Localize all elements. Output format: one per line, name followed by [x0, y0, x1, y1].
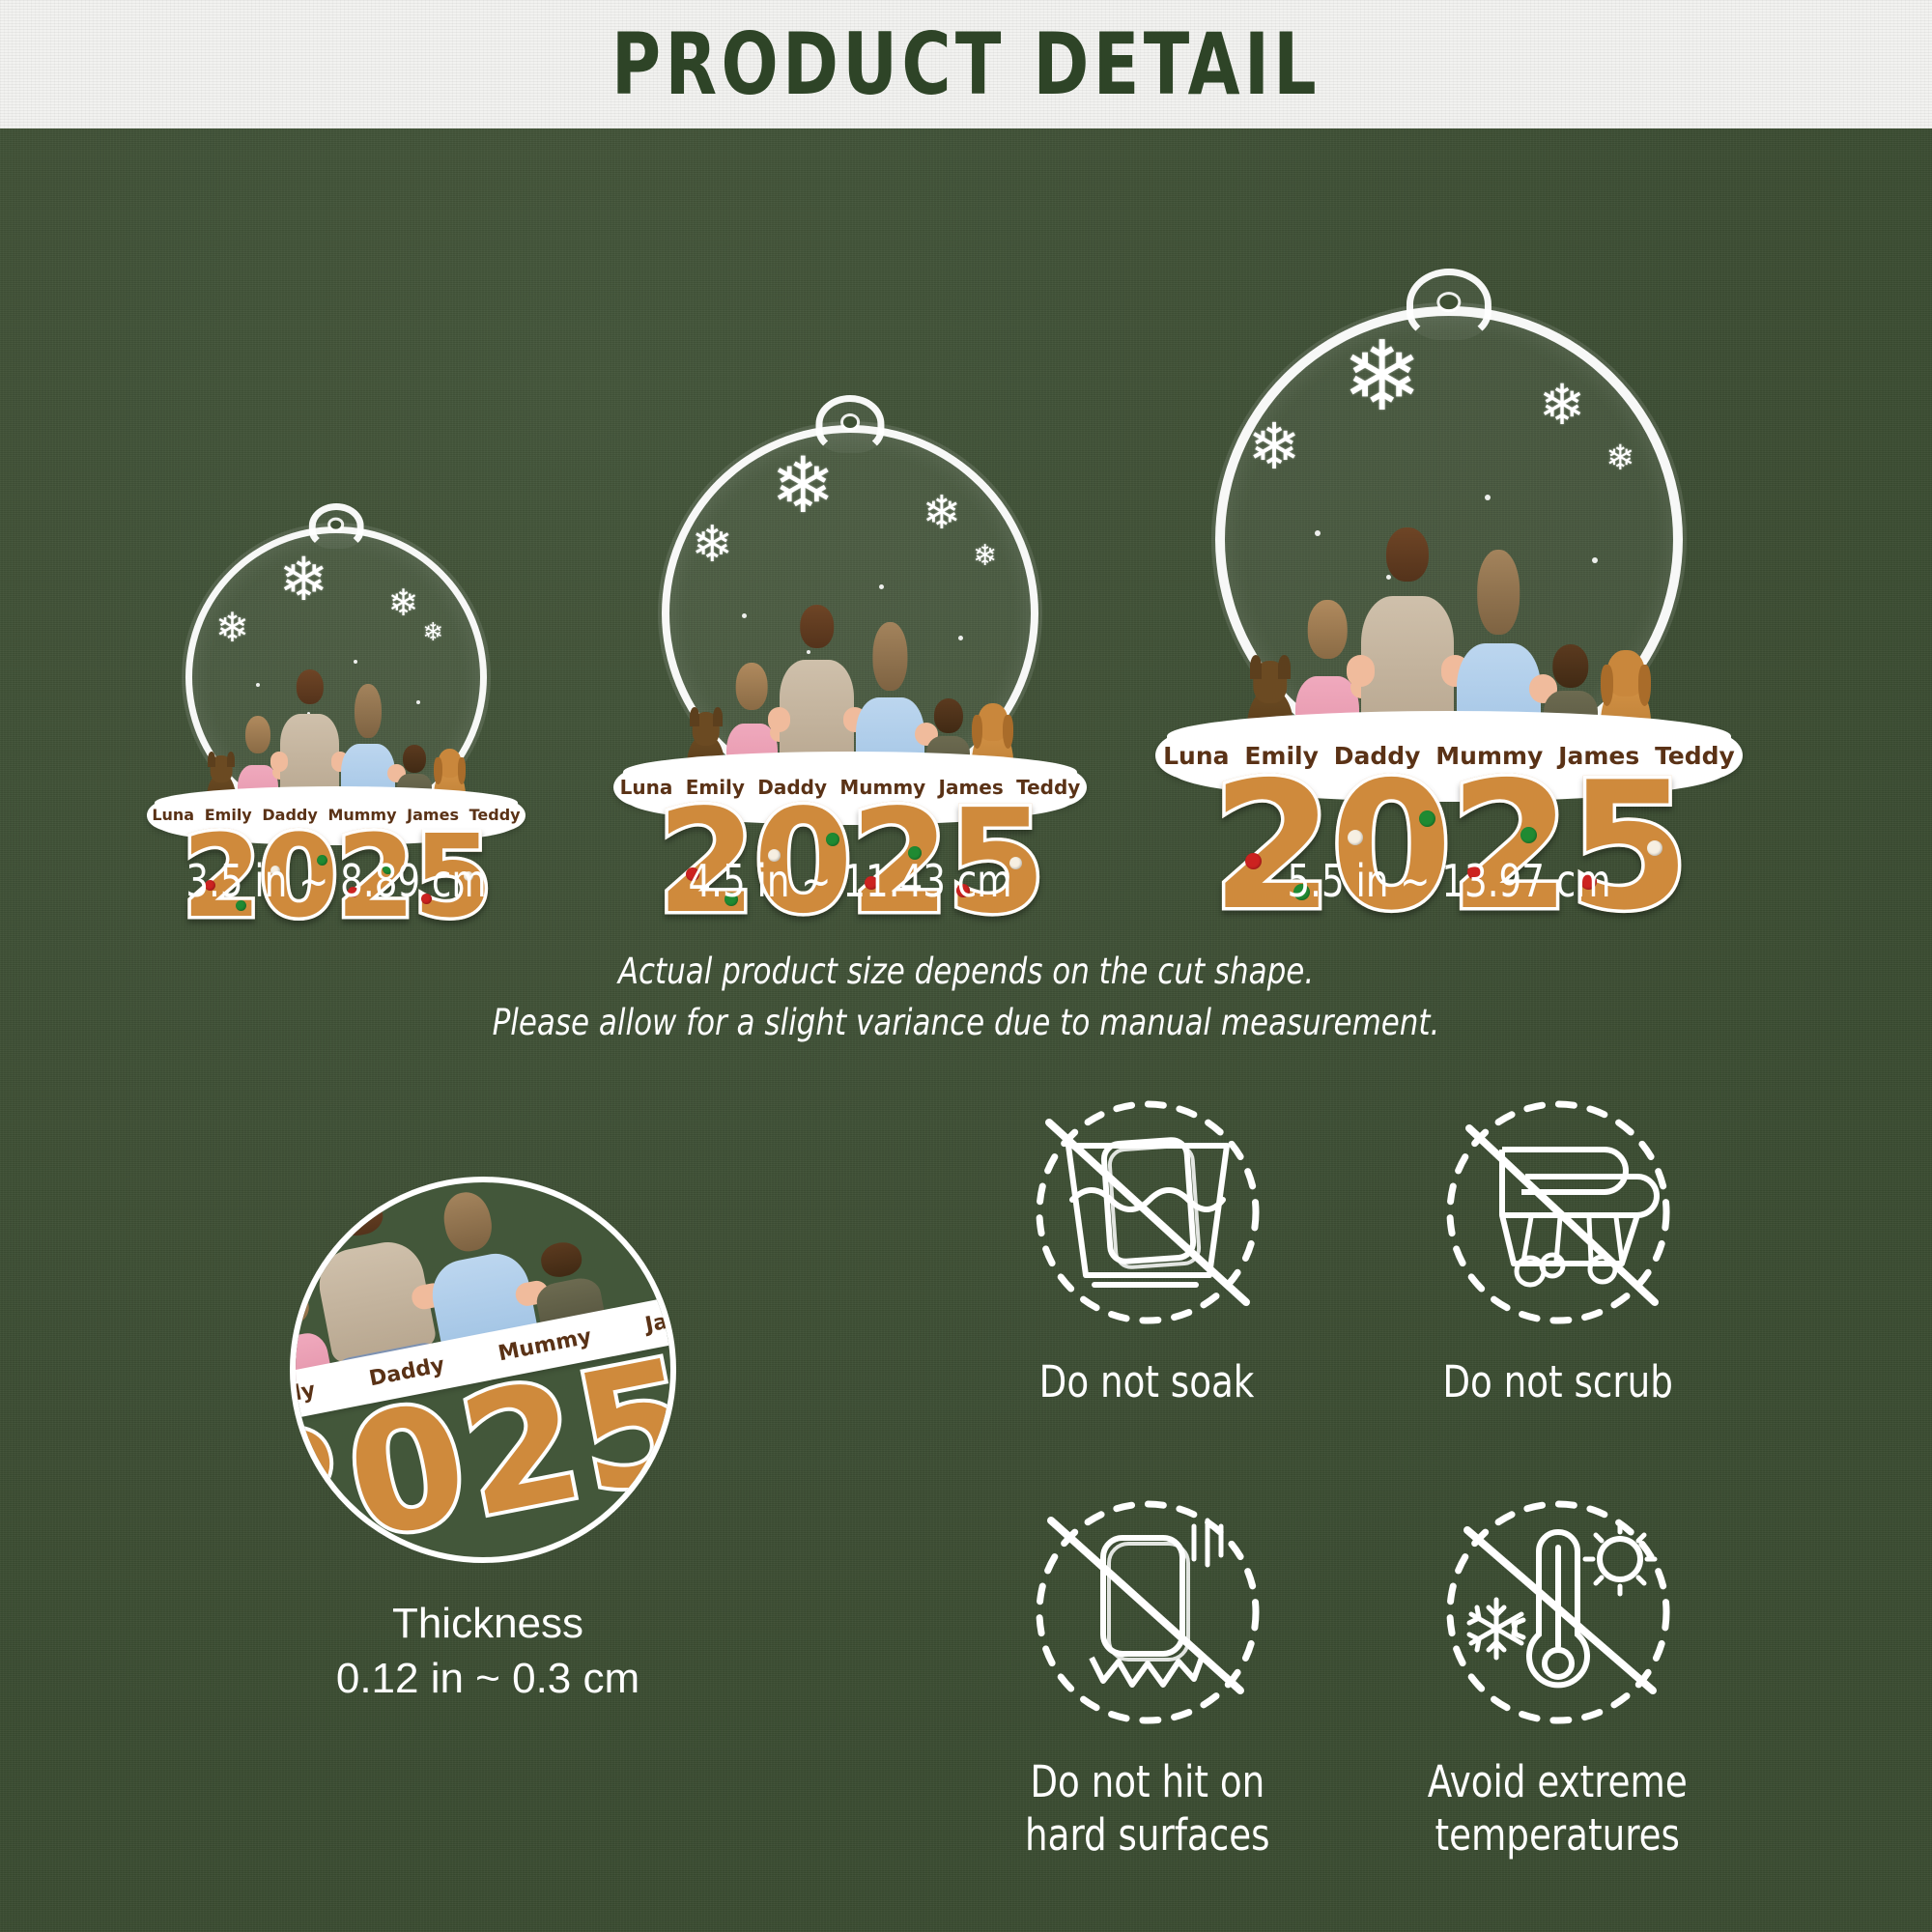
snowflake-icon: ❄	[278, 551, 328, 611]
care-label: Do not hit on hard surfaces	[1025, 1756, 1270, 1862]
snowflake-icon: ❄	[923, 491, 961, 537]
disclaimer-line-1: Actual product size depends on the cut s…	[68, 947, 1864, 998]
person-name: James	[407, 806, 459, 824]
size-caption-small: 3.5 in ~ 8.89 cm	[162, 855, 510, 907]
acrylic-globe: ❄ ❄ ❄ ❄	[185, 526, 487, 828]
snowflake-icon: ❄	[771, 447, 836, 525]
thickness-caption: Thickness 0.12 in ~ 0.3 cm	[290, 1596, 686, 1706]
snowflake-icon: ❄	[1605, 440, 1634, 475]
person-name: Daddy	[757, 776, 827, 799]
snowflake-icon: ❄	[691, 520, 733, 570]
person-name: Daddy	[1334, 742, 1421, 770]
product-detail-page: PRODUCT DETAIL ❄ ❄ ❄ ❄	[0, 0, 1932, 1932]
size-disclaimer: Actual product size depends on the cut s…	[68, 947, 1864, 1048]
acrylic-globe: ❄ ❄ ❄ ❄	[662, 425, 1038, 802]
ornament-sample-large[interactable]: ❄ ❄ ❄ ❄	[1150, 306, 1748, 930]
care-item-no-soak: Do not soak	[966, 1092, 1328, 1478]
ornament-graphic-large: ❄ ❄ ❄ ❄	[1150, 306, 1748, 774]
person-name: Daddy	[262, 806, 317, 824]
person-name: Mummy	[1435, 742, 1543, 770]
care-item-no-extreme-temp: Avoid extreme temperatures	[1377, 1492, 1739, 1878]
person-name: Emily	[1244, 742, 1319, 770]
snowflake-icon: ❄	[973, 542, 997, 571]
care-item-no-scrub: Do not scrub	[1377, 1092, 1739, 1478]
snowflake-icon: ❄	[388, 585, 419, 622]
page-header: PRODUCT DETAIL	[0, 0, 1932, 128]
care-instructions-grid: Do not soak Do not scrub	[966, 1092, 1739, 1878]
person-name: Luna	[1163, 742, 1229, 770]
person-name: Luna	[620, 776, 673, 799]
thickness-title: Thickness	[290, 1596, 686, 1651]
care-label: Do not scrub	[1442, 1356, 1673, 1409]
person-name: Mummy	[839, 776, 925, 799]
ornament-graphic-small: ❄ ❄ ❄ ❄	[143, 526, 529, 828]
person-name: Mummy	[327, 806, 396, 824]
candy-dot	[826, 833, 839, 846]
thickness-section: Emily Daddy Mummy James 2025 Thickness 0…	[290, 1177, 686, 1706]
candy-dot	[1348, 830, 1363, 845]
candy-dot	[1419, 810, 1435, 827]
care-item-no-impact: Do not hit on hard surfaces	[966, 1492, 1328, 1878]
thickness-closeup-circle: Emily Daddy Mummy James 2025	[290, 1177, 676, 1563]
no-extreme-temp-icon	[1413, 1492, 1703, 1752]
disclaimer-line-2: Please allow for a slight variance due t…	[68, 998, 1864, 1049]
size-caption-medium: 4.5 in ~ 11.43 cm	[633, 855, 1067, 907]
person-name: James	[643, 1300, 676, 1338]
no-impact-icon	[1003, 1492, 1293, 1752]
person-name: Emily	[205, 806, 252, 824]
ornament-graphic-medium: ❄ ❄ ❄ ❄	[609, 425, 1092, 802]
hanging-hole-tab	[309, 503, 364, 550]
person-name: Teddy	[1655, 742, 1735, 770]
person-name: Teddy	[469, 806, 521, 824]
size-caption-large: 5.5 in ~ 13.97 cm	[1179, 855, 1719, 907]
care-label: Do not soak	[1039, 1356, 1255, 1409]
page-title: PRODUCT DETAIL	[611, 14, 1321, 114]
snowflake-icon: ❄	[1247, 414, 1300, 478]
snowflake-icon: ❄	[1539, 378, 1586, 434]
ornament-size-row: ❄ ❄ ❄ ❄	[0, 128, 1932, 930]
person-name: Luna	[152, 806, 194, 824]
thickness-closeup-image: Emily Daddy Mummy James 2025	[290, 1177, 676, 1563]
thickness-value: 0.12 in ~ 0.3 cm	[290, 1651, 686, 1706]
person-name: Teddy	[1016, 776, 1080, 799]
acrylic-globe: ❄ ❄ ❄ ❄	[1215, 306, 1683, 774]
care-label: Avoid extreme temperatures	[1428, 1756, 1688, 1862]
no-scrub-icon	[1413, 1092, 1703, 1352]
snowflake-icon: ❄	[215, 608, 249, 648]
snowflake-icon: ❄	[1342, 328, 1423, 425]
person-name: James	[939, 776, 1004, 799]
person-name: James	[1558, 742, 1639, 770]
no-soak-icon	[1003, 1092, 1293, 1352]
person-name: Emily	[686, 776, 745, 799]
snowflake-icon: ❄	[422, 619, 443, 644]
candy-dot	[1647, 840, 1662, 856]
